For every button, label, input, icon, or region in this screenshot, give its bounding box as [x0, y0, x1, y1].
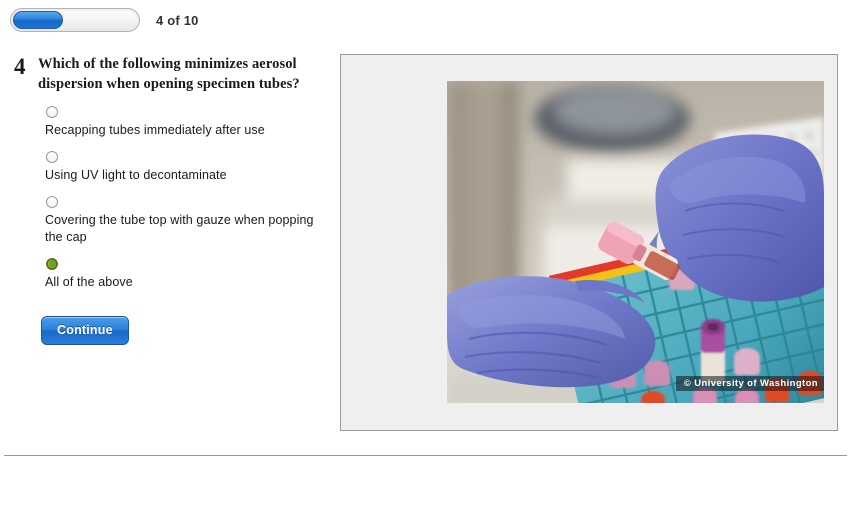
question-heading: 4 Which of the following minimizes aeros…: [14, 54, 334, 94]
answer-option-label: Recapping tubes immediately after use: [45, 122, 334, 139]
radio-button-selected[interactable]: [46, 258, 58, 270]
question-text: Which of the following minimizes aerosol…: [38, 54, 334, 94]
progress-header: 4 of 10: [10, 8, 199, 32]
radio-button[interactable]: [46, 196, 58, 208]
lab-photo: © University of Washington: [447, 81, 824, 403]
answer-option[interactable]: Covering the tube top with gauze when po…: [45, 196, 334, 246]
answer-option-label: All of the above: [45, 274, 334, 291]
question-number: 4: [14, 54, 38, 78]
answer-option-label: Using UV light to decontaminate: [45, 167, 334, 184]
answer-options: Recapping tubes immediately after useUsi…: [45, 106, 334, 290]
progress-bar-fill: [13, 11, 63, 29]
radio-button[interactable]: [46, 106, 58, 118]
footer-divider: [4, 455, 847, 456]
answer-option[interactable]: Recapping tubes immediately after use: [45, 106, 334, 139]
answer-option[interactable]: All of the above: [45, 258, 334, 291]
media-panel: © University of Washington: [340, 54, 838, 431]
progress-label: 4 of 10: [156, 13, 199, 28]
photo-watermark: © University of Washington: [676, 376, 824, 391]
continue-button[interactable]: Continue: [41, 316, 129, 345]
radio-button[interactable]: [46, 151, 58, 163]
question-block: 4 Which of the following minimizes aeros…: [14, 54, 334, 345]
answer-option-label: Covering the tube top with gauze when po…: [45, 212, 334, 246]
answer-option[interactable]: Using UV light to decontaminate: [45, 151, 334, 184]
progress-bar: [10, 8, 140, 32]
